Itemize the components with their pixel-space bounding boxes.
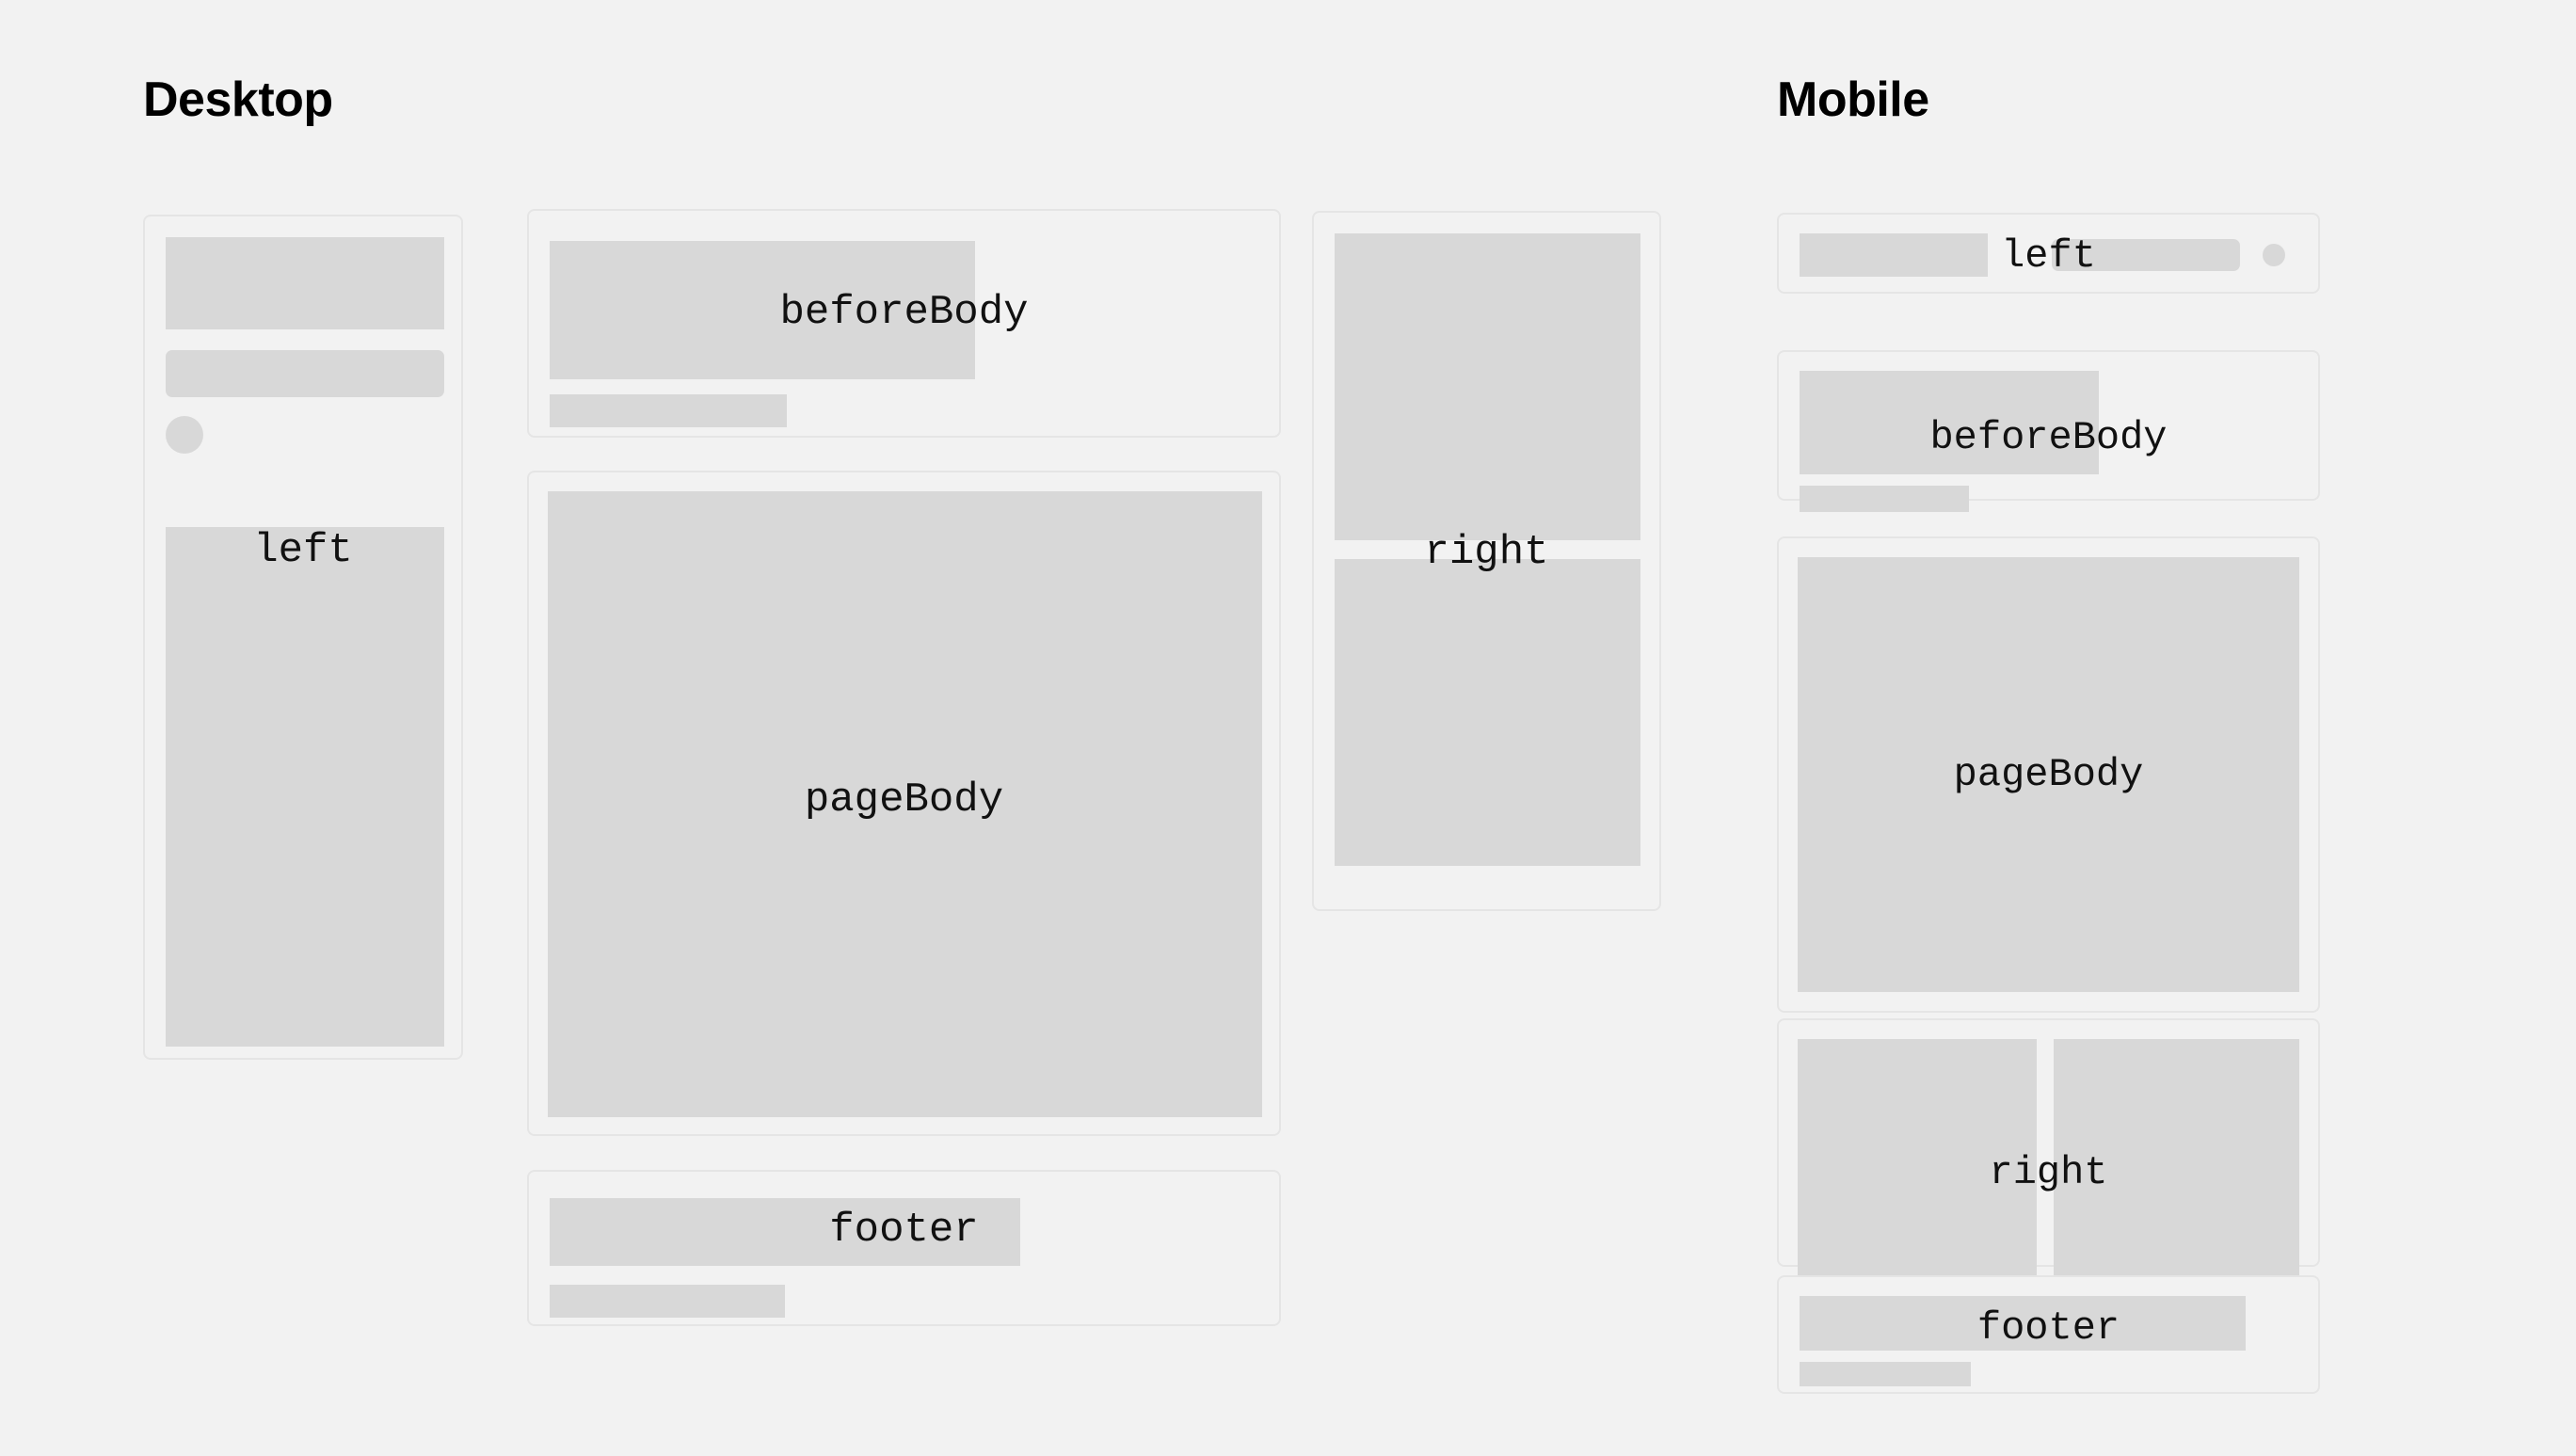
mobile-pagebody-content-block	[1798, 557, 2299, 992]
desktop-pagebody-content-block	[548, 491, 1262, 1117]
layout-preview-canvas: Desktop left beforeBody pageBody footer …	[0, 0, 2576, 1456]
mobile-beforebody-region-panel[interactable]	[1777, 350, 2320, 501]
mobile-left-subheader-block	[2052, 239, 2240, 271]
desktop-right-region-panel[interactable]	[1312, 211, 1661, 911]
desktop-beforebody-hero-block	[550, 241, 975, 379]
desktop-left-avatar-dot	[166, 416, 203, 454]
desktop-left-subheader-block	[166, 350, 444, 397]
desktop-left-nav-block	[166, 527, 444, 1047]
desktop-beforebody-region-panel[interactable]	[527, 209, 1281, 438]
desktop-footer-region-panel[interactable]	[527, 1170, 1281, 1326]
desktop-left-header-block	[166, 237, 444, 329]
mobile-footer-caption-block	[1800, 1362, 1971, 1386]
mobile-right-widget-block-left	[1798, 1039, 2037, 1276]
mobile-section-heading: Mobile	[1777, 75, 1929, 124]
mobile-footer-region-panel[interactable]	[1777, 1275, 2320, 1394]
mobile-pagebody-region-panel[interactable]	[1777, 536, 2320, 1013]
mobile-left-header-block	[1800, 233, 1988, 277]
mobile-left-region-panel[interactable]	[1777, 213, 2320, 294]
mobile-left-avatar-dot	[2263, 244, 2285, 266]
mobile-beforebody-caption-block	[1800, 486, 1969, 512]
desktop-right-widget-block-top	[1335, 233, 1640, 540]
desktop-footer-caption-block	[550, 1285, 785, 1318]
desktop-beforebody-caption-block	[550, 394, 787, 427]
mobile-footer-block	[1800, 1296, 2246, 1351]
desktop-section-heading: Desktop	[143, 75, 333, 124]
mobile-right-widget-block-right	[2054, 1039, 2299, 1276]
mobile-right-region-panel[interactable]	[1777, 1018, 2320, 1267]
desktop-footer-block	[550, 1198, 1020, 1266]
desktop-left-region-panel[interactable]	[143, 215, 463, 1060]
desktop-right-widget-block-bottom	[1335, 559, 1640, 866]
mobile-beforebody-hero-block	[1800, 371, 2099, 474]
desktop-pagebody-region-panel[interactable]	[527, 471, 1281, 1136]
